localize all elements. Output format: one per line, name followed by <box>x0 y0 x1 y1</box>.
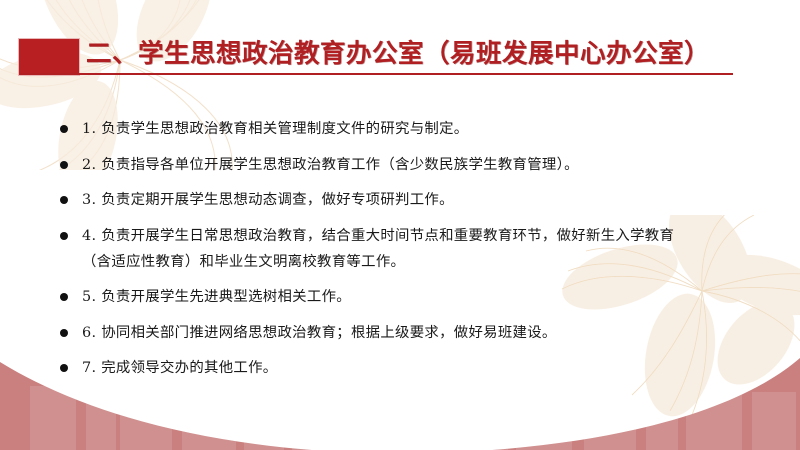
list-item-text: 1. 负责学生思想政治教育相关管理制度文件的研究与制定。 <box>82 116 750 142</box>
list-item: 1. 负责学生思想政治教育相关管理制度文件的研究与制定。 <box>60 116 750 142</box>
list-item-text: 2. 负责指导各单位开展学生思想政治教育工作（含少数民族学生教育管理）。 <box>82 152 750 178</box>
list-item: 3. 负责定期开展学生思想动态调查，做好专项研判工作。 <box>60 187 750 213</box>
slide-title-block: 二、学生思想政治教育办公室（易班发展中心办公室） <box>0 34 800 80</box>
title-accent-square <box>18 38 80 76</box>
bullet-dot-icon <box>60 293 68 301</box>
bullet-dot-icon <box>60 364 68 372</box>
list-item-text: 6. 协同相关部门推进网络思想政治教育；根据上级要求，做好易班建设。 <box>82 320 750 346</box>
list-item: 7. 完成领导交办的其他工作。 <box>60 355 750 381</box>
list-item-text: 4. 负责开展学生日常思想政治教育，结合重大时间节点和重要教育环节，做好新生入学… <box>82 223 750 249</box>
list-item-text: 3. 负责定期开展学生思想动态调查，做好专项研判工作。 <box>82 187 750 213</box>
bullet-dot-icon <box>60 196 68 204</box>
list-item: 5. 负责开展学生先进典型选树相关工作。 <box>60 284 750 310</box>
bullet-dot-icon <box>60 232 68 240</box>
list-item: 6. 协同相关部门推进网络思想政治教育；根据上级要求，做好易班建设。 <box>60 320 750 346</box>
list-item-text-continued: （含适应性教育）和毕业生文明离校教育等工作。 <box>82 254 405 270</box>
bullet-dot-icon <box>60 125 68 133</box>
slide-canvas: 二、学生思想政治教育办公室（易班发展中心办公室） 1. 负责学生思想政治教育相关… <box>0 0 800 450</box>
title-underline-rule <box>20 73 733 75</box>
list-item: 4. 负责开展学生日常思想政治教育，结合重大时间节点和重要教育环节，做好新生入学… <box>60 223 750 275</box>
bullet-dot-icon <box>60 329 68 337</box>
list-item-text: 7. 完成领导交办的其他工作。 <box>82 355 750 381</box>
page-title: 二、学生思想政治教育办公室（易班发展中心办公室） <box>86 34 710 74</box>
bullet-dot-icon <box>60 161 68 169</box>
list-item-text: 5. 负责开展学生先进典型选树相关工作。 <box>82 284 750 310</box>
list-item: 2. 负责指导各单位开展学生思想政治教育工作（含少数民族学生教育管理）。 <box>60 152 750 178</box>
bullet-list: 1. 负责学生思想政治教育相关管理制度文件的研究与制定。 2. 负责指导各单位开… <box>60 116 750 391</box>
